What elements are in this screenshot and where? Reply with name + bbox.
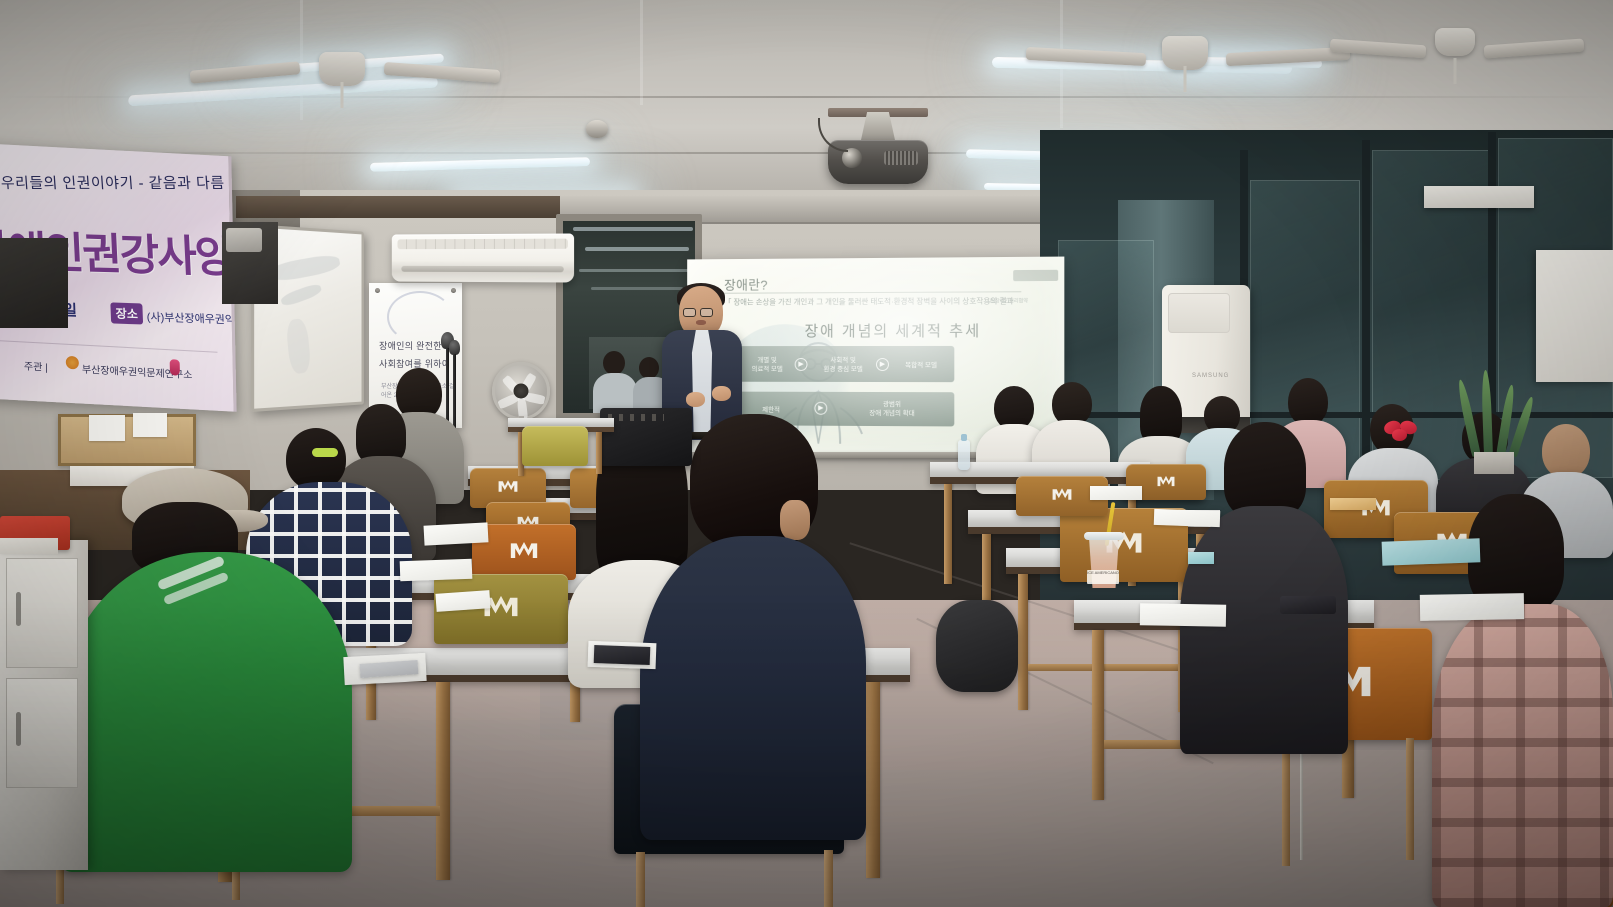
- potted-plant: [1460, 370, 1534, 456]
- handout-papers: [1154, 509, 1221, 527]
- slide-row1-cell-3: 복합적 모델: [894, 361, 948, 370]
- ac-upper-panel: [1168, 293, 1230, 333]
- chair-m-logo-icon: [491, 480, 526, 494]
- dark-monitor: [600, 408, 692, 466]
- table-leg: [436, 682, 450, 880]
- handout-papers: [1090, 486, 1142, 500]
- chair-m-logo-icon: [500, 540, 548, 559]
- handout-papers: [400, 559, 473, 582]
- banner-place-tag: 장소: [110, 302, 143, 324]
- slide-arrow-icon: ▶: [795, 358, 808, 371]
- cabinet-handle[interactable]: [16, 592, 21, 626]
- ac-brand-label: SAMSUNG: [1192, 373, 1229, 379]
- banner-place: (사)부산장애우권익문제연구소 교육실: [146, 308, 236, 330]
- chair-m-logo-icon: [1148, 474, 1185, 486]
- table-leg: [596, 432, 602, 474]
- presenter-glasses-icon: [683, 308, 696, 317]
- orange-paper: [1330, 498, 1376, 510]
- storage-cabinet: [0, 540, 88, 870]
- handout-papers: [424, 522, 489, 545]
- attendee-green-jacket: [60, 444, 352, 864]
- ac-intake-grille: [398, 239, 568, 250]
- presenter-glasses-icon: [700, 308, 713, 317]
- fan-cage: [492, 362, 550, 420]
- slide-heading: 장애 개념의 세계적 추세: [805, 320, 982, 341]
- handout-papers: [1140, 603, 1226, 626]
- cup-label: ICE AMERICANO: [1087, 570, 1119, 584]
- slide-corner-tag: [1013, 270, 1058, 281]
- wall-dark-recess: [0, 238, 68, 328]
- ceiling-panel-line: [640, 0, 643, 105]
- ceiling-fan: [1360, 28, 1550, 80]
- ceiling-fan: [232, 52, 452, 112]
- slide-arrow-icon: ▶: [876, 358, 889, 371]
- teal-folder: [1188, 552, 1214, 564]
- iced-drink-cup: ICE AMERICANO: [1086, 524, 1126, 600]
- chair-leg: [636, 852, 645, 907]
- ear: [780, 500, 810, 540]
- teal-folder: [1382, 538, 1481, 565]
- water-bottle: [958, 440, 970, 470]
- small-device: [1280, 596, 1336, 614]
- banner-host: 주관 |: [24, 358, 48, 374]
- cup-lid: [1084, 532, 1124, 540]
- slide-quote-source: - UN장애인권리협약: [985, 297, 1028, 304]
- projector-vent: [884, 151, 918, 165]
- attendee-navy-suit-center: [640, 414, 866, 834]
- chair-leg: [1300, 740, 1303, 860]
- monitor-buttons: [608, 414, 664, 421]
- microphone-icon: [449, 340, 460, 355]
- wall-shelf: [1424, 186, 1534, 208]
- wall-beam: [236, 196, 566, 218]
- chair-m-logo-icon: [1041, 488, 1083, 502]
- white-panel: [1536, 250, 1613, 382]
- host-logo-icon: [66, 356, 79, 370]
- table-leg: [1092, 630, 1104, 800]
- banner-divider: [0, 340, 217, 353]
- table-leg: [1018, 574, 1028, 710]
- paper-stack: [0, 538, 58, 554]
- slide-arrow-icon: ▶: [814, 402, 827, 415]
- notebook-cover: [594, 645, 651, 665]
- chair-leg: [1282, 738, 1290, 866]
- ceiling-smoke-detector: [586, 120, 608, 138]
- presenter-hand: [712, 386, 731, 401]
- ceiling-projector: [826, 108, 930, 192]
- wall-air-conditioner: [392, 233, 574, 282]
- black-backpack: [936, 600, 1018, 692]
- lecture-room-photo: SAMSUNG " 우리들의 인권이야기 - 같음과 다름 " 장애인권강사양성…: [0, 0, 1613, 907]
- chair-leg: [824, 850, 833, 907]
- table-leg: [944, 484, 952, 584]
- ac-louver: [401, 266, 563, 272]
- wall-mounted-box: [226, 228, 262, 252]
- presenter-mouth: [696, 320, 706, 325]
- handout-papers: [1420, 593, 1524, 621]
- handout-papers: [435, 590, 490, 612]
- chair-leg: [1406, 738, 1414, 860]
- slide-row1-cell-2: 사회적 및환경 중심 모델: [814, 356, 872, 374]
- attendee-plaid-shirt: [1432, 604, 1613, 907]
- chair[interactable]: [522, 426, 588, 466]
- banner-subtitle: " 우리들의 인권이야기 - 같음과 다름 ": [0, 172, 230, 193]
- gift-ribbon: [1384, 418, 1418, 442]
- attendee-dark-right-front: [1180, 422, 1348, 742]
- sponsor-logo-icon: [170, 359, 180, 376]
- ceiling-fan: [1070, 36, 1300, 96]
- cabinet-handle[interactable]: [16, 712, 21, 746]
- presenter-hand: [686, 392, 705, 407]
- plant-pot: [1474, 452, 1514, 474]
- table-leg: [866, 682, 880, 878]
